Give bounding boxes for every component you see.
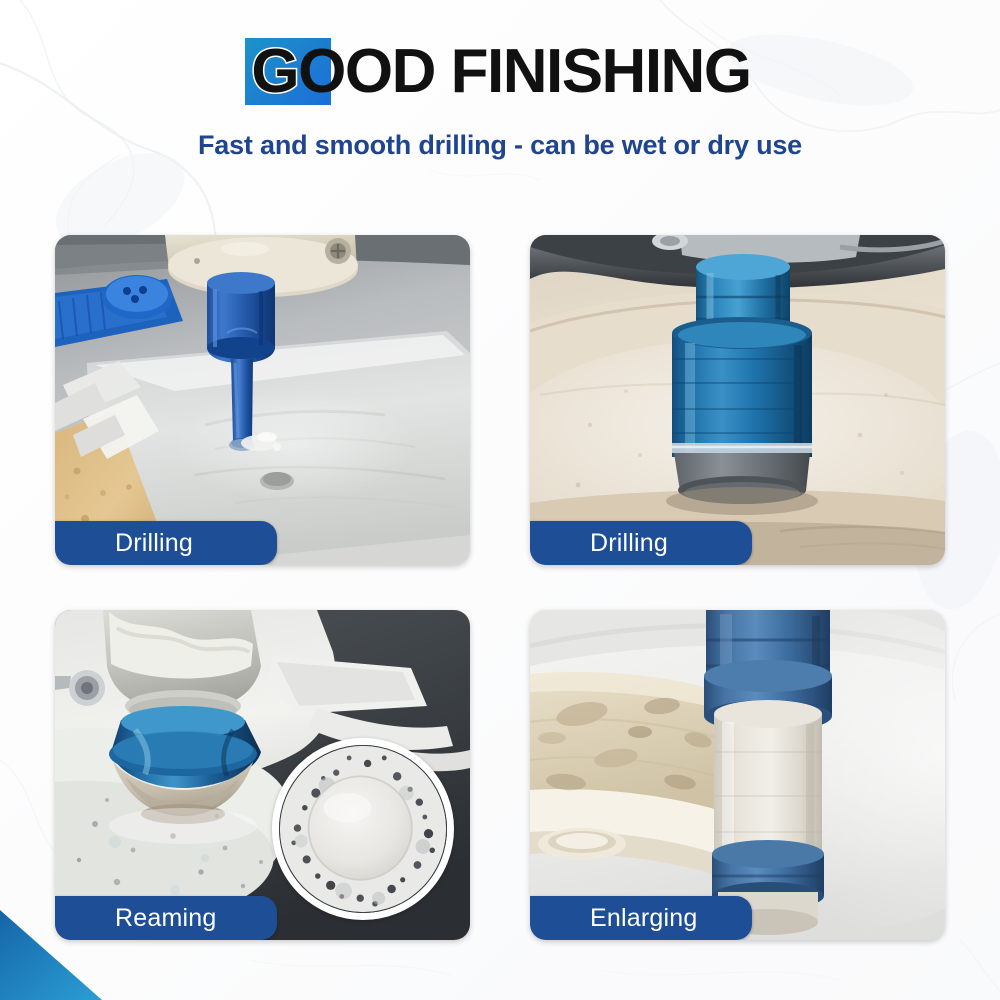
inset-photo-drilled-hole [272,738,454,920]
card-label-text: Reaming [115,904,216,933]
photo-card-enlarging[interactable]: Enlarging [530,610,945,940]
card-label-drilling-1: Drilling [55,521,277,565]
page-title: GOOD FINISHING [245,32,754,112]
photo-card-reaming[interactable]: Reaming [55,610,470,940]
photo-drilling-closeup [530,235,945,565]
card-label-drilling-2: Drilling [530,521,752,565]
title-row: GOOD FINISHING [0,32,1000,112]
card-label-enlarging: Enlarging [530,896,752,940]
title-wrap: GOOD FINISHING [245,32,754,112]
card-label-text: Drilling [590,529,668,558]
header: GOOD FINISHING Fast and smooth drilling … [0,0,1000,200]
photo-card-drilling-tile[interactable]: Drilling [55,235,470,565]
photo-enlarging [530,610,945,940]
card-label-text: Enlarging [590,904,697,933]
page-title-rest: OOD FINISHING [298,37,750,106]
page-title-first-letter: G [251,37,298,106]
card-label-text: Drilling [115,529,193,558]
photo-grid: Drilling [55,235,945,940]
photo-card-drilling-closeup[interactable]: Drilling [530,235,945,565]
infographic-page: GOOD FINISHING Fast and smooth drilling … [0,0,1000,1000]
photo-drilling-tile [55,235,470,565]
card-label-reaming: Reaming [55,896,277,940]
page-subtitle: Fast and smooth drilling - can be wet or… [0,130,1000,161]
